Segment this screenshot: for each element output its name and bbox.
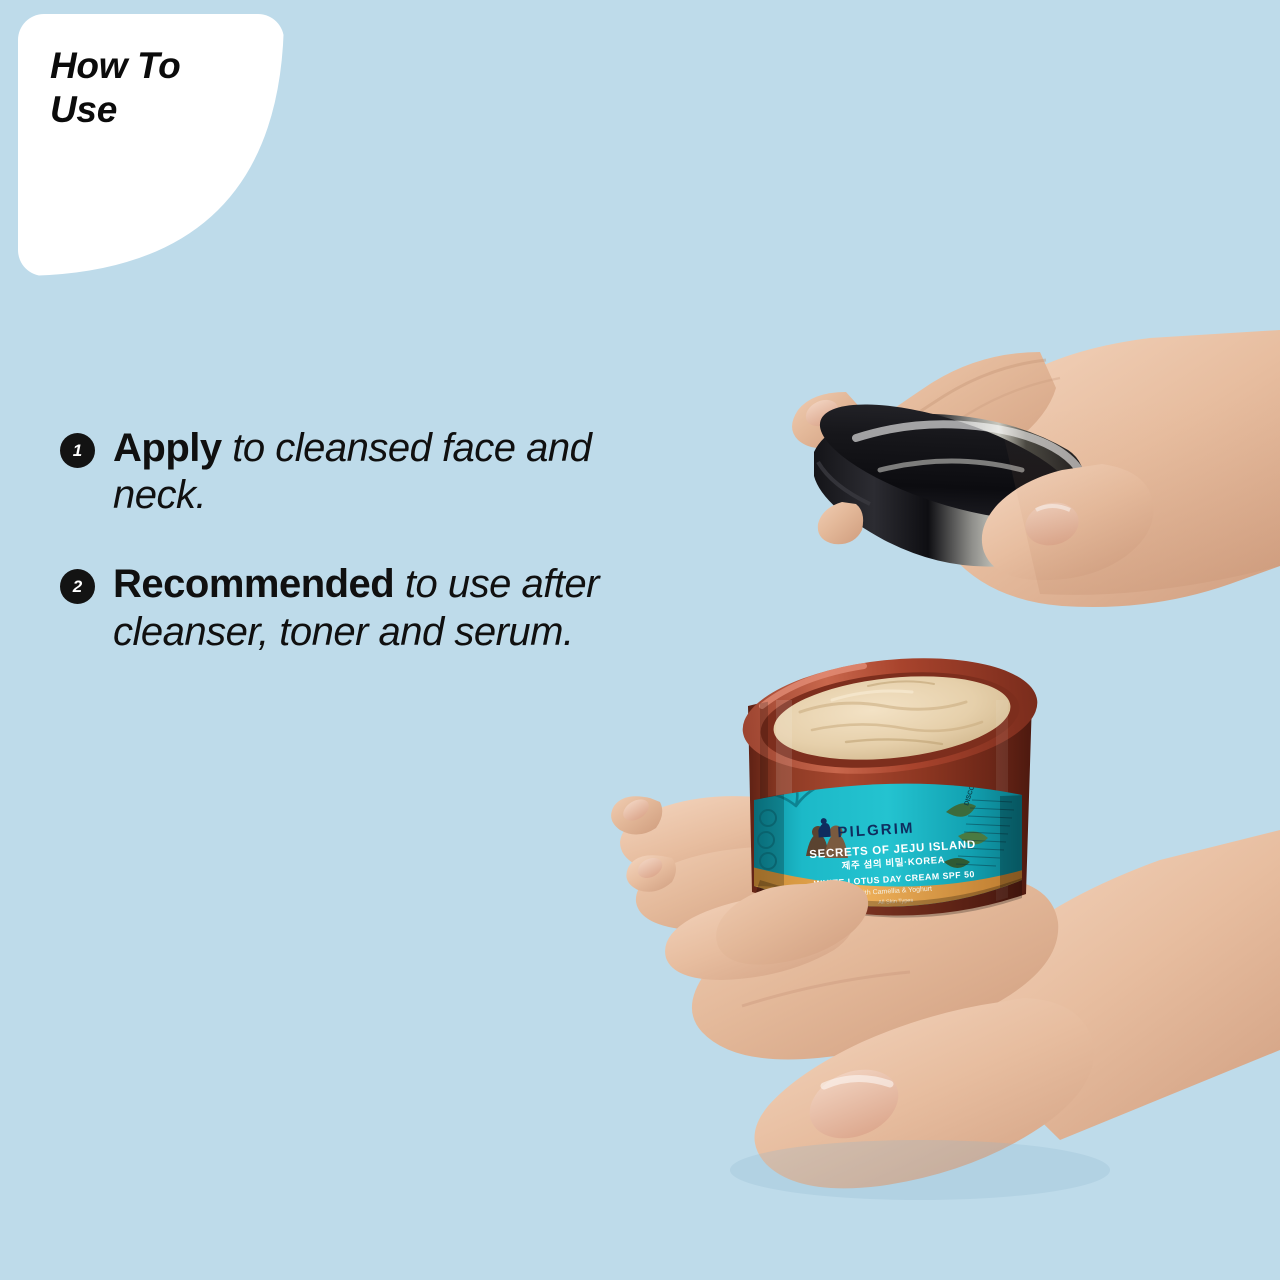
label-left-shade [754,794,784,888]
hand-drop-shadow [730,1140,1110,1200]
step-text: Recommended to use after cleanser, toner… [113,561,680,655]
step-item: 1 Apply to cleansed face and neck. [60,425,680,519]
how-to-use-graphic: PILGRIM SECRETS OF JEJU ISLAND 제주 섬의 비밀·… [0,0,1280,1280]
upper-hand-shading [1000,398,1280,595]
step-lead: Recommended [113,562,394,606]
step-number-badge: 2 [60,569,95,604]
how-to-use-steps: 1 Apply to cleansed face and neck. 2 Rec… [60,425,680,698]
label-right-shade [1000,795,1022,888]
step-item: 2 Recommended to use after cleanser, ton… [60,561,680,655]
how-to-use-title: How To Use [50,44,180,131]
step-lead: Apply [113,426,222,470]
step-number-badge: 1 [60,433,95,468]
step-text: Apply to cleansed face and neck. [113,425,680,519]
